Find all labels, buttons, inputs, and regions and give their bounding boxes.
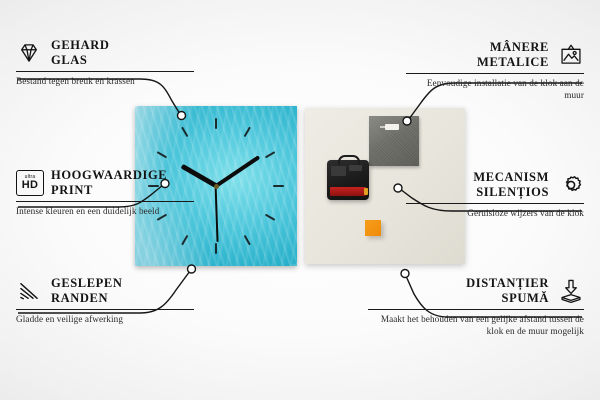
feature-mecanism-silentios[interactable]: MECANISM SILENȚIOS Geruisloze wijzers va… — [406, 170, 584, 219]
hour-marker — [157, 151, 168, 158]
feature-description: Eenvoudige installatie van de klok aan d… — [406, 77, 584, 102]
feature-description: Intense kleuren en een duidelijk beeld — [16, 205, 194, 217]
metal-hanger-plate — [369, 116, 419, 166]
diamond-icon — [16, 40, 42, 66]
foam-spacer — [365, 220, 381, 236]
ground-edges-icon — [16, 278, 42, 304]
feature-head: ultra HD HOOGWAARDIGE PRINT — [16, 168, 194, 198]
feature-head: GEHARD GLAS — [16, 38, 194, 68]
feature-head: DISTANȚIER SPUMĂ — [368, 276, 584, 306]
spacer-arrow-icon — [558, 278, 584, 304]
minute-hand — [215, 155, 260, 187]
divider — [406, 203, 584, 204]
ultra-hd-icon-main-text: HD — [22, 180, 39, 191]
feature-title: HOOGWAARDIGE PRINT — [51, 168, 167, 198]
gear-icon — [558, 172, 584, 198]
feature-manere-metalice[interactable]: MÂNERE METALICE Eenvoudige installatie v… — [406, 40, 584, 101]
feature-description: Bestand tegen breuk en krassen — [16, 75, 194, 87]
feature-hoogwaardige-print[interactable]: ultra HD HOOGWAARDIGE PRINT Intense kleu… — [16, 168, 194, 217]
hour-marker — [215, 243, 217, 254]
feature-gehard-glas[interactable]: GEHARD GLAS Bestand tegen breuk en krass… — [16, 38, 194, 87]
hour-marker — [265, 214, 276, 221]
hour-marker — [215, 118, 217, 129]
divider — [16, 309, 194, 310]
leader-endpoint-3 — [188, 265, 196, 273]
clock-mechanism-box — [327, 160, 369, 200]
hour-marker — [181, 127, 188, 138]
hour-marker — [244, 235, 251, 246]
divider — [406, 73, 584, 74]
feature-distantier-spuma[interactable]: DISTANȚIER SPUMĂ Maakt het behouden van … — [368, 276, 584, 337]
hour-marker — [265, 151, 276, 158]
hour-marker — [244, 127, 251, 138]
feature-head: GESLEPEN RANDEN — [16, 276, 194, 306]
feature-description: Maakt het behouden van een gelijke afsta… — [368, 313, 584, 338]
feature-head: MECANISM SILENȚIOS — [406, 170, 584, 200]
hour-marker — [181, 235, 188, 246]
hanger-loop-icon — [338, 155, 360, 165]
second-hand — [215, 186, 219, 242]
feature-description: Geruisloze wijzers van de klok — [406, 207, 584, 219]
mechanism-label — [331, 166, 346, 176]
divider — [368, 309, 584, 310]
mechanism-label — [349, 165, 362, 171]
clock-hub — [214, 184, 219, 189]
infographic-canvas: GEHARD GLAS Bestand tegen breuk en krass… — [0, 0, 600, 400]
hour-marker — [273, 185, 284, 187]
feature-title: GEHARD GLAS — [51, 38, 109, 68]
feature-title: GESLEPEN RANDEN — [51, 276, 123, 306]
feature-head: MÂNERE METALICE — [406, 40, 584, 70]
feature-title: MÂNERE METALICE — [477, 40, 549, 70]
feature-geslepen-randen[interactable]: GESLEPEN RANDEN Gladde en veilige afwerk… — [16, 276, 194, 325]
divider — [16, 71, 194, 72]
battery — [330, 187, 366, 196]
ultra-hd-icon: ultra HD — [16, 170, 42, 196]
feature-description: Gladde en veilige afwerking — [16, 313, 194, 325]
feature-title: MECANISM SILENȚIOS — [473, 170, 549, 200]
picture-frame-hanger-icon — [558, 42, 584, 68]
feature-title: DISTANȚIER SPUMĂ — [466, 276, 549, 306]
hanger-keyhole-slot — [385, 124, 399, 130]
divider — [16, 201, 194, 202]
